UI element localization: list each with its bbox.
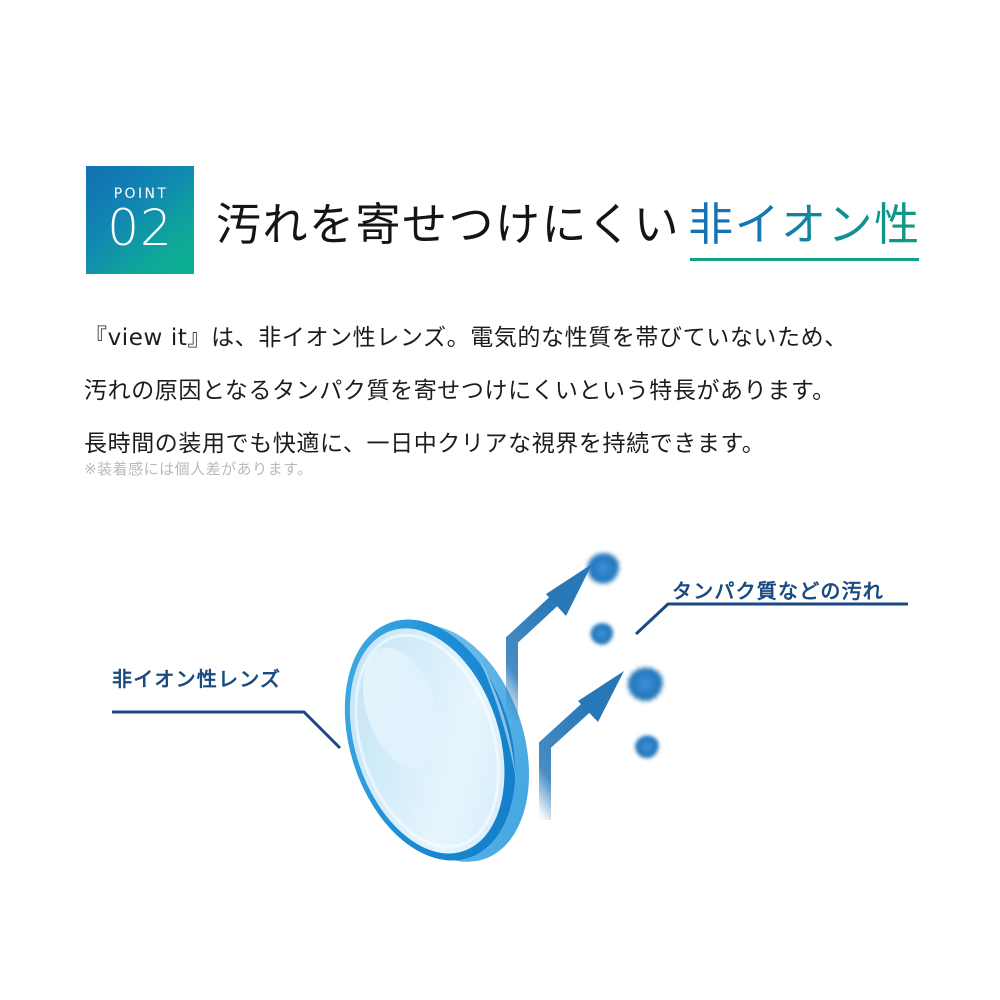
point-header: POINT 02 汚れを寄せつけにくい 非イオン性 xyxy=(86,166,916,276)
repel-arrow-lower xyxy=(545,671,624,820)
footnote-text: ※装着感には個人差があります。 xyxy=(84,458,313,479)
protein-particle-3 xyxy=(627,666,663,701)
leader-line-lens xyxy=(112,712,340,748)
point-badge: POINT 02 xyxy=(86,166,194,274)
body-line-2: 汚れの原因となるタンパク質を寄せつけにくいという特長があります。 xyxy=(84,369,924,414)
point-badge-number: 02 xyxy=(107,203,173,253)
body-copy: 『view it』は、非イオン性レンズ。電気的な性質を帯びていないため、 汚れの… xyxy=(84,316,924,475)
protein-particle-4 xyxy=(635,735,660,759)
leader-line-protein xyxy=(636,604,908,634)
repel-arrow-upper xyxy=(512,564,592,720)
page-title: 汚れを寄せつけにくい 非イオン性 xyxy=(216,172,921,268)
callout-label-lens: 非イオン性レンズ xyxy=(112,663,281,692)
headline-plain-text: 汚れを寄せつけにくい xyxy=(216,188,680,253)
protein-particle-2 xyxy=(590,622,613,645)
headline-accent-text: 非イオン性 xyxy=(688,198,921,251)
body-line-1: 『view it』は、非イオン性レンズ。電気的な性質を帯びていないため、 xyxy=(84,316,924,361)
headline-accent-wrap: 非イオン性 xyxy=(688,188,921,253)
headline-underline xyxy=(690,258,919,261)
protein-particle-1 xyxy=(587,552,620,584)
callout-label-protein: タンパク質などの汚れ xyxy=(672,575,884,604)
